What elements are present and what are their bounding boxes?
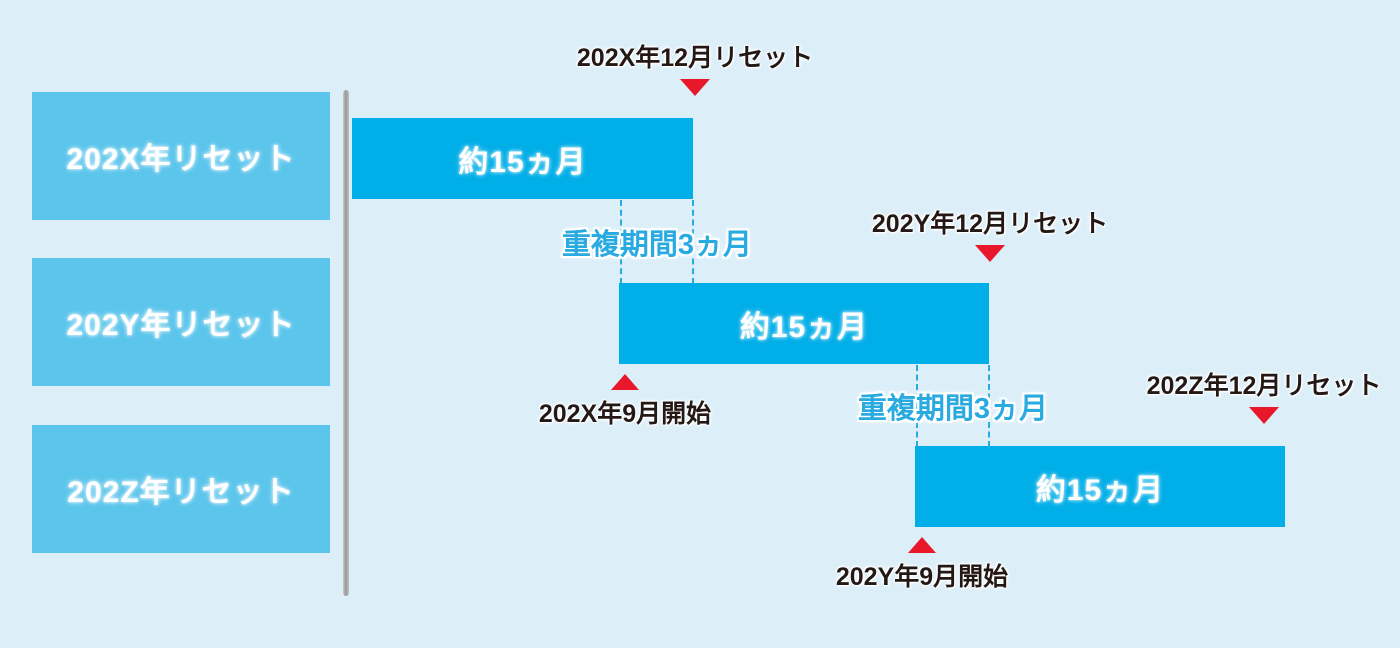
overlap-annotation-1: 重複期間3ヵ月: [620, 200, 694, 284]
overlap-label: 重複期間3ヵ月: [858, 385, 1048, 427]
legend-box-202z: 202Z年リセット: [32, 425, 330, 553]
start-marker-label: 202Y年9月開始: [797, 557, 1047, 593]
legend-box-202x: 202X年リセット: [32, 92, 330, 220]
reset-marker-202y: 202Y年12月リセット: [850, 204, 1130, 262]
duration-bar-label: 約15ヵ月: [458, 137, 586, 181]
triangle-up-icon: [611, 374, 639, 390]
reset-marker-202x: 202X年12月リセット: [555, 38, 835, 96]
reset-marker-label: 202X年12月リセット: [555, 38, 835, 74]
triangle-down-icon: [680, 79, 710, 96]
vertical-axis-line: [343, 90, 349, 596]
duration-bar-label: 約15ヵ月: [1036, 465, 1164, 509]
reset-marker-label: 202Y年12月リセット: [850, 204, 1130, 240]
triangle-up-icon: [908, 537, 936, 553]
duration-bar-202y: 約15ヵ月: [619, 283, 989, 364]
reset-marker-label: 202Z年12月リセット: [1124, 366, 1400, 402]
timeline-diagram: 202X年リセット 202Y年リセット 202Z年リセット 202X年12月リセ…: [0, 0, 1400, 648]
legend-label: 202Z年リセット: [67, 467, 294, 511]
start-marker-label: 202X年9月開始: [500, 394, 750, 430]
triangle-down-icon: [975, 245, 1005, 262]
triangle-down-icon: [1249, 407, 1279, 424]
duration-bar-202z: 約15ヵ月: [915, 446, 1285, 527]
duration-bar-202x: 約15ヵ月: [352, 118, 693, 199]
start-marker-202y: 202Y年9月開始: [797, 537, 1047, 593]
reset-marker-202z: 202Z年12月リセット: [1124, 366, 1400, 424]
overlap-annotation-2: 重複期間3ヵ月: [916, 365, 990, 447]
duration-bar-label: 約15ヵ月: [740, 302, 868, 346]
legend-box-202y: 202Y年リセット: [32, 258, 330, 386]
start-marker-202x: 202X年9月開始: [500, 374, 750, 430]
legend-label: 202X年リセット: [66, 134, 295, 178]
overlap-label: 重複期間3ヵ月: [562, 221, 752, 263]
legend-label: 202Y年リセット: [66, 300, 295, 344]
